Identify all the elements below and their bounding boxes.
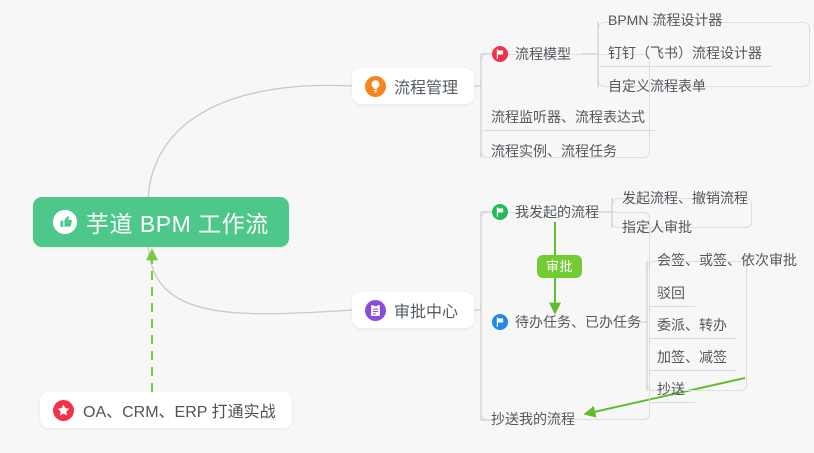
leaf-listener-expression-label: 流程监听器、流程表达式: [491, 107, 645, 127]
leaf-assigned-approval[interactable]: 指定人审批: [614, 215, 702, 241]
node-my-initiated[interactable]: 我发起的流程: [492, 201, 599, 223]
leaf-carbon-copy-label: 抄送: [657, 379, 685, 399]
leaf-add-remove-sign-label: 加签、减签: [657, 347, 727, 367]
footer-node-integration[interactable]: OA、CRM、ERP 打通实战: [40, 392, 292, 428]
flag-icon: [492, 314, 508, 330]
leaf-reject-label: 驳回: [657, 283, 685, 303]
leaf-custom-form[interactable]: 自定义流程表单: [600, 74, 716, 100]
annotation-tag-approval: 审批: [537, 255, 582, 278]
node-process-model-label: 流程模型: [515, 44, 571, 64]
leaf-delegate-transfer-label: 委派、转办: [657, 315, 727, 335]
footer-node-integration-label: OA、CRM、ERP 打通实战: [83, 398, 276, 422]
root-node[interactable]: 芋道 BPM 工作流: [33, 197, 289, 247]
leaf-instance-task[interactable]: 流程实例、流程任务: [483, 139, 627, 165]
leaf-add-remove-sign[interactable]: 加签、减签: [649, 345, 737, 371]
thumbs-up-icon: [53, 210, 77, 234]
node-todo-done-tasks-label: 待办任务、已办任务: [515, 312, 641, 332]
leaf-countersign-label: 会签、或签、依次审批: [657, 250, 797, 270]
annotation-tag-approval-label: 审批: [546, 259, 573, 274]
branch-approval-center[interactable]: 审批中心: [352, 292, 474, 328]
node-process-model[interactable]: 流程模型: [492, 43, 571, 65]
leaf-reject[interactable]: 驳回: [649, 281, 695, 307]
leaf-countersign[interactable]: 会签、或签、依次审批: [649, 248, 807, 274]
flag-icon: [492, 46, 508, 62]
lightbulb-icon: [365, 76, 386, 97]
leaf-bpmn-designer-label: BPMN 流程设计器: [608, 10, 722, 30]
leaf-instance-task-label: 流程实例、流程任务: [491, 141, 617, 161]
leaf-delegate-transfer[interactable]: 委派、转办: [649, 313, 737, 339]
mindmap-canvas: 芋道 BPM 工作流 流程管理 流程模型 BPMN 流程设计器 钉钉（飞书: [0, 0, 814, 453]
leaf-assigned-approval-label: 指定人审批: [622, 217, 692, 237]
leaf-bpmn-designer[interactable]: BPMN 流程设计器: [600, 8, 732, 34]
star-icon: [53, 400, 74, 421]
leaf-start-cancel-process[interactable]: 发起流程、撤销流程: [614, 186, 758, 212]
clipboard-icon: [365, 300, 386, 321]
leaf-start-cancel-process-label: 发起流程、撤销流程: [622, 188, 748, 208]
leaf-dingtalk-designer[interactable]: 钉钉（飞书）流程设计器: [600, 41, 772, 67]
node-todo-done-tasks[interactable]: 待办任务、已办任务: [492, 311, 641, 333]
link-root-to-approval-center: [148, 244, 352, 314]
leaf-cc-to-me-label: 抄送我的流程: [491, 409, 575, 429]
branch-process-management[interactable]: 流程管理: [352, 68, 474, 104]
node-my-initiated-label: 我发起的流程: [515, 202, 599, 222]
root-node-label: 芋道 BPM 工作流: [86, 205, 269, 239]
leaf-dingtalk-designer-label: 钉钉（飞书）流程设计器: [608, 43, 762, 63]
branch-approval-center-label: 审批中心: [394, 298, 458, 322]
leaf-custom-form-label: 自定义流程表单: [608, 76, 706, 96]
branch-process-management-label: 流程管理: [394, 74, 458, 98]
flag-icon: [492, 204, 508, 220]
leaf-cc-to-me[interactable]: 抄送我的流程: [483, 407, 585, 433]
link-root-to-process-management: [148, 85, 352, 200]
leaf-carbon-copy[interactable]: 抄送: [649, 377, 695, 403]
leaf-listener-expression[interactable]: 流程监听器、流程表达式: [483, 105, 655, 131]
